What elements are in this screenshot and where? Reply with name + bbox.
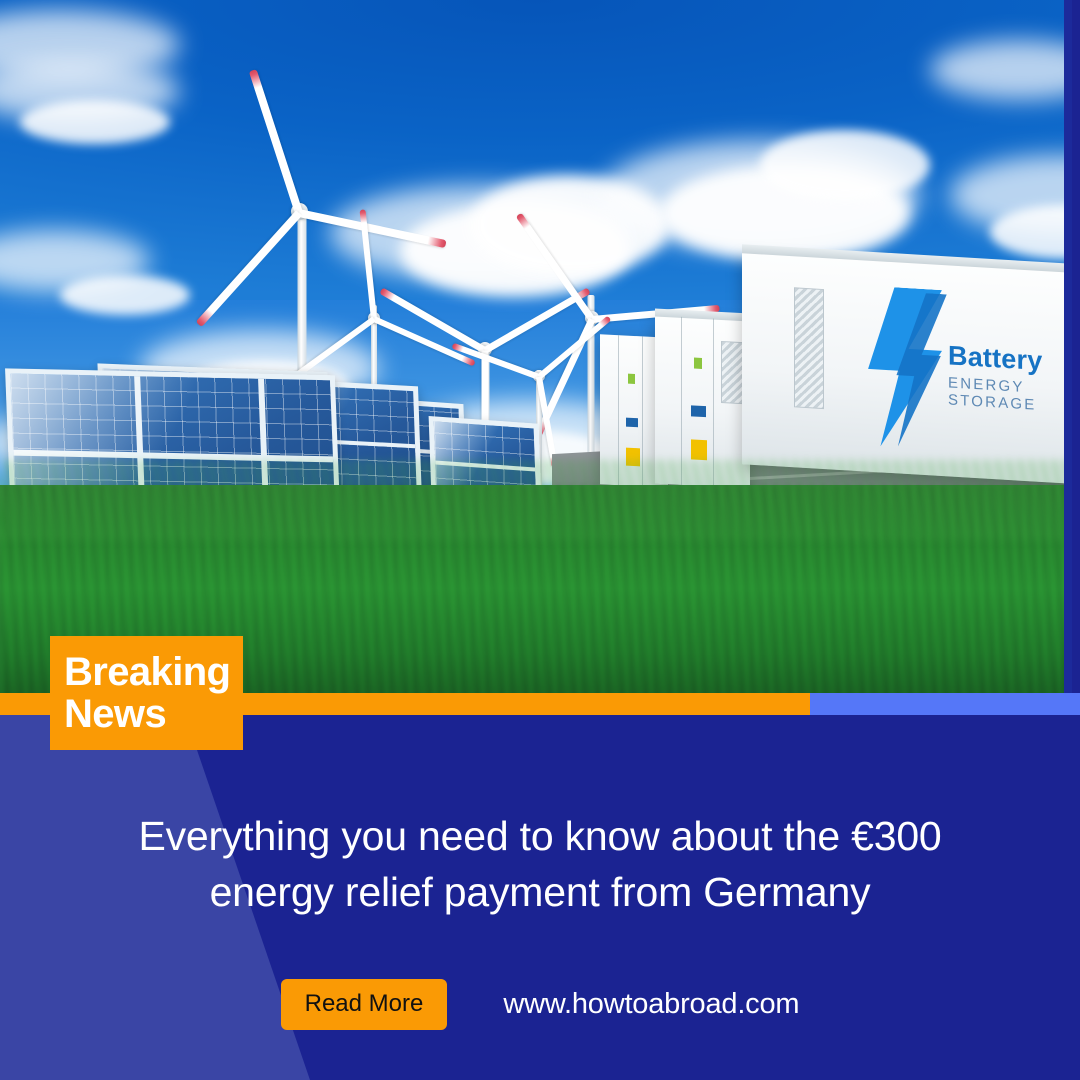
battery-sub-text: ENERGY STORAGE <box>948 374 1072 415</box>
turbine-blade <box>373 316 476 366</box>
accent-stripe-blue <box>810 693 1080 715</box>
read-more-button[interactable]: Read More <box>281 979 448 1030</box>
battery-brand-text: Battery <box>948 340 1042 377</box>
battery-container-front: Battery ENERGY STORAGE <box>742 252 1072 484</box>
cta-row: Read More www.howtoabroad.com <box>0 978 1080 1030</box>
info-label <box>691 405 706 417</box>
hazard-label <box>694 358 702 369</box>
badge-line-1: Breaking <box>64 651 243 693</box>
page-title: Everything you need to know about the €3… <box>70 808 1010 920</box>
warning-label <box>691 439 707 460</box>
hazard-label <box>628 374 635 384</box>
hero-photo: Battery ENERGY STORAGE <box>0 0 1072 700</box>
badge-line-2: News <box>64 693 243 735</box>
photo-right-edge <box>1064 0 1072 700</box>
news-poster: Battery ENERGY STORAGE <box>0 0 1080 1080</box>
turbine-blade <box>298 209 446 248</box>
container-vent <box>794 287 824 409</box>
headline-line-2: energy relief payment from Germany <box>210 869 871 915</box>
cloud-icon <box>760 130 930 200</box>
cloud-icon <box>60 275 190 315</box>
container-roof <box>655 309 750 322</box>
container-vent <box>721 341 743 404</box>
breaking-news-badge: Breaking News <box>50 636 243 750</box>
cloud-icon <box>20 100 170 144</box>
info-label <box>626 418 638 428</box>
website-url: www.howtoabroad.com <box>503 988 799 1021</box>
headline-line-1: Everything you need to know about the €3… <box>138 813 941 859</box>
grass-blades <box>0 460 1072 540</box>
